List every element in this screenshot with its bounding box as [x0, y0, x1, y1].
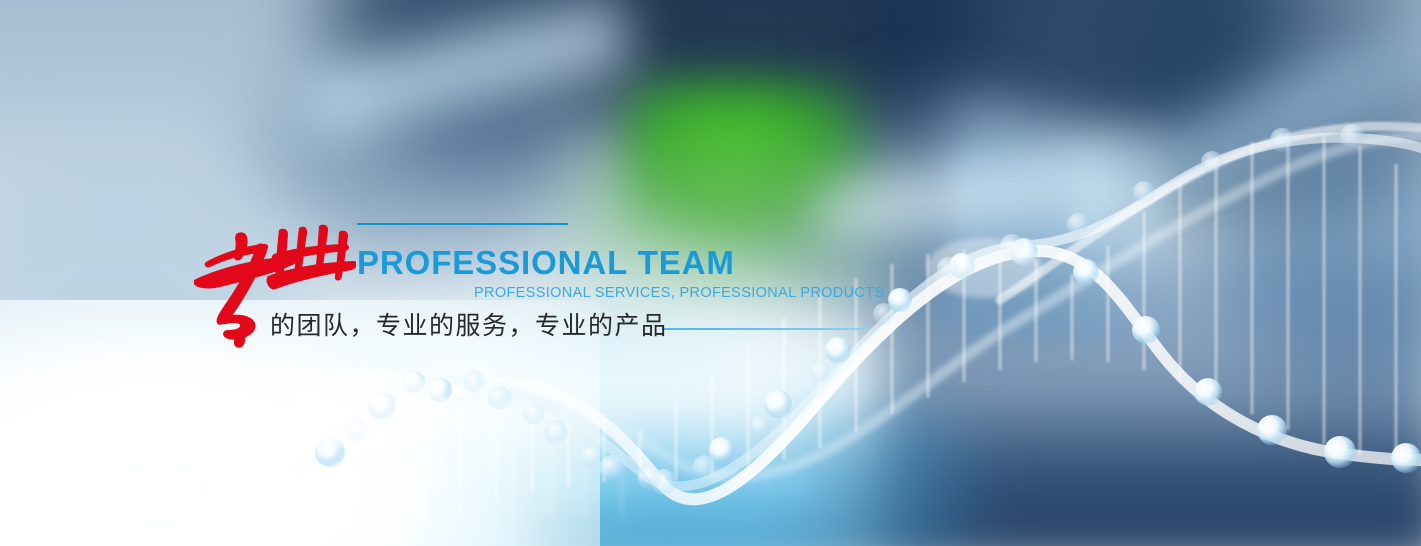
banner-subheadline: PROFESSIONAL SERVICES, PROFESSIONAL PROD… [474, 285, 884, 301]
banner-copy: PROFESSIONAL TEAM PROFESSIONAL SERVICES,… [0, 0, 1421, 546]
decorative-rule-bottom [662, 328, 870, 330]
decorative-rule-top [357, 223, 568, 225]
hero-banner: PROFESSIONAL TEAM PROFESSIONAL SERVICES,… [0, 0, 1421, 546]
calligraphy-brush-strokes [186, 214, 356, 348]
banner-headline: PROFESSIONAL TEAM [357, 244, 735, 282]
calligraphy-zhuanye [186, 214, 356, 348]
